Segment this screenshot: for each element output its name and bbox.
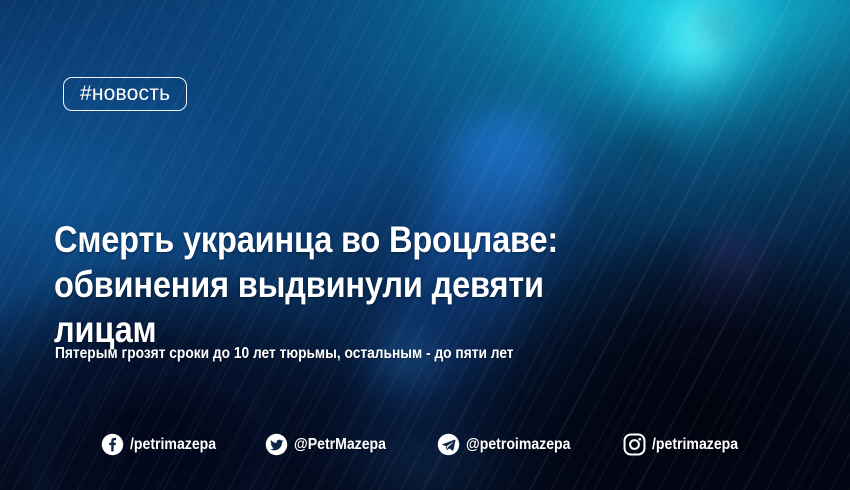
- instagram-icon: [623, 433, 646, 456]
- social-link-facebook[interactable]: /petrimazepa: [101, 433, 228, 456]
- telegram-icon: [437, 433, 460, 456]
- social-link-telegram[interactable]: @petroimazepa: [437, 433, 585, 456]
- page-title: Смерть украинца во Вроцлаве: обвинения в…: [54, 217, 635, 352]
- facebook-icon: [101, 433, 124, 456]
- category-badge[interactable]: #новость: [63, 77, 187, 111]
- social-label-instagram: /petrimazepa: [652, 436, 738, 454]
- social-label-twitter: @PetrMazepa: [294, 436, 386, 454]
- social-label-facebook: /petrimazepa: [130, 436, 216, 454]
- card-content: #новость Смерть украинца во Вроцлаве: об…: [0, 0, 850, 490]
- subtitle: Пятерым грозят сроки до 10 лет тюрьмы, о…: [55, 344, 514, 364]
- social-link-twitter[interactable]: @PetrMazepa: [265, 433, 399, 456]
- news-card: #новость Смерть украинца во Вроцлаве: об…: [0, 0, 850, 490]
- twitter-icon: [265, 433, 288, 456]
- social-links-bar: /petrimazepa @PetrMazepa @petroimazepa: [0, 433, 850, 456]
- social-link-instagram[interactable]: /petrimazepa: [623, 433, 750, 456]
- social-label-telegram: @petroimazepa: [466, 436, 571, 454]
